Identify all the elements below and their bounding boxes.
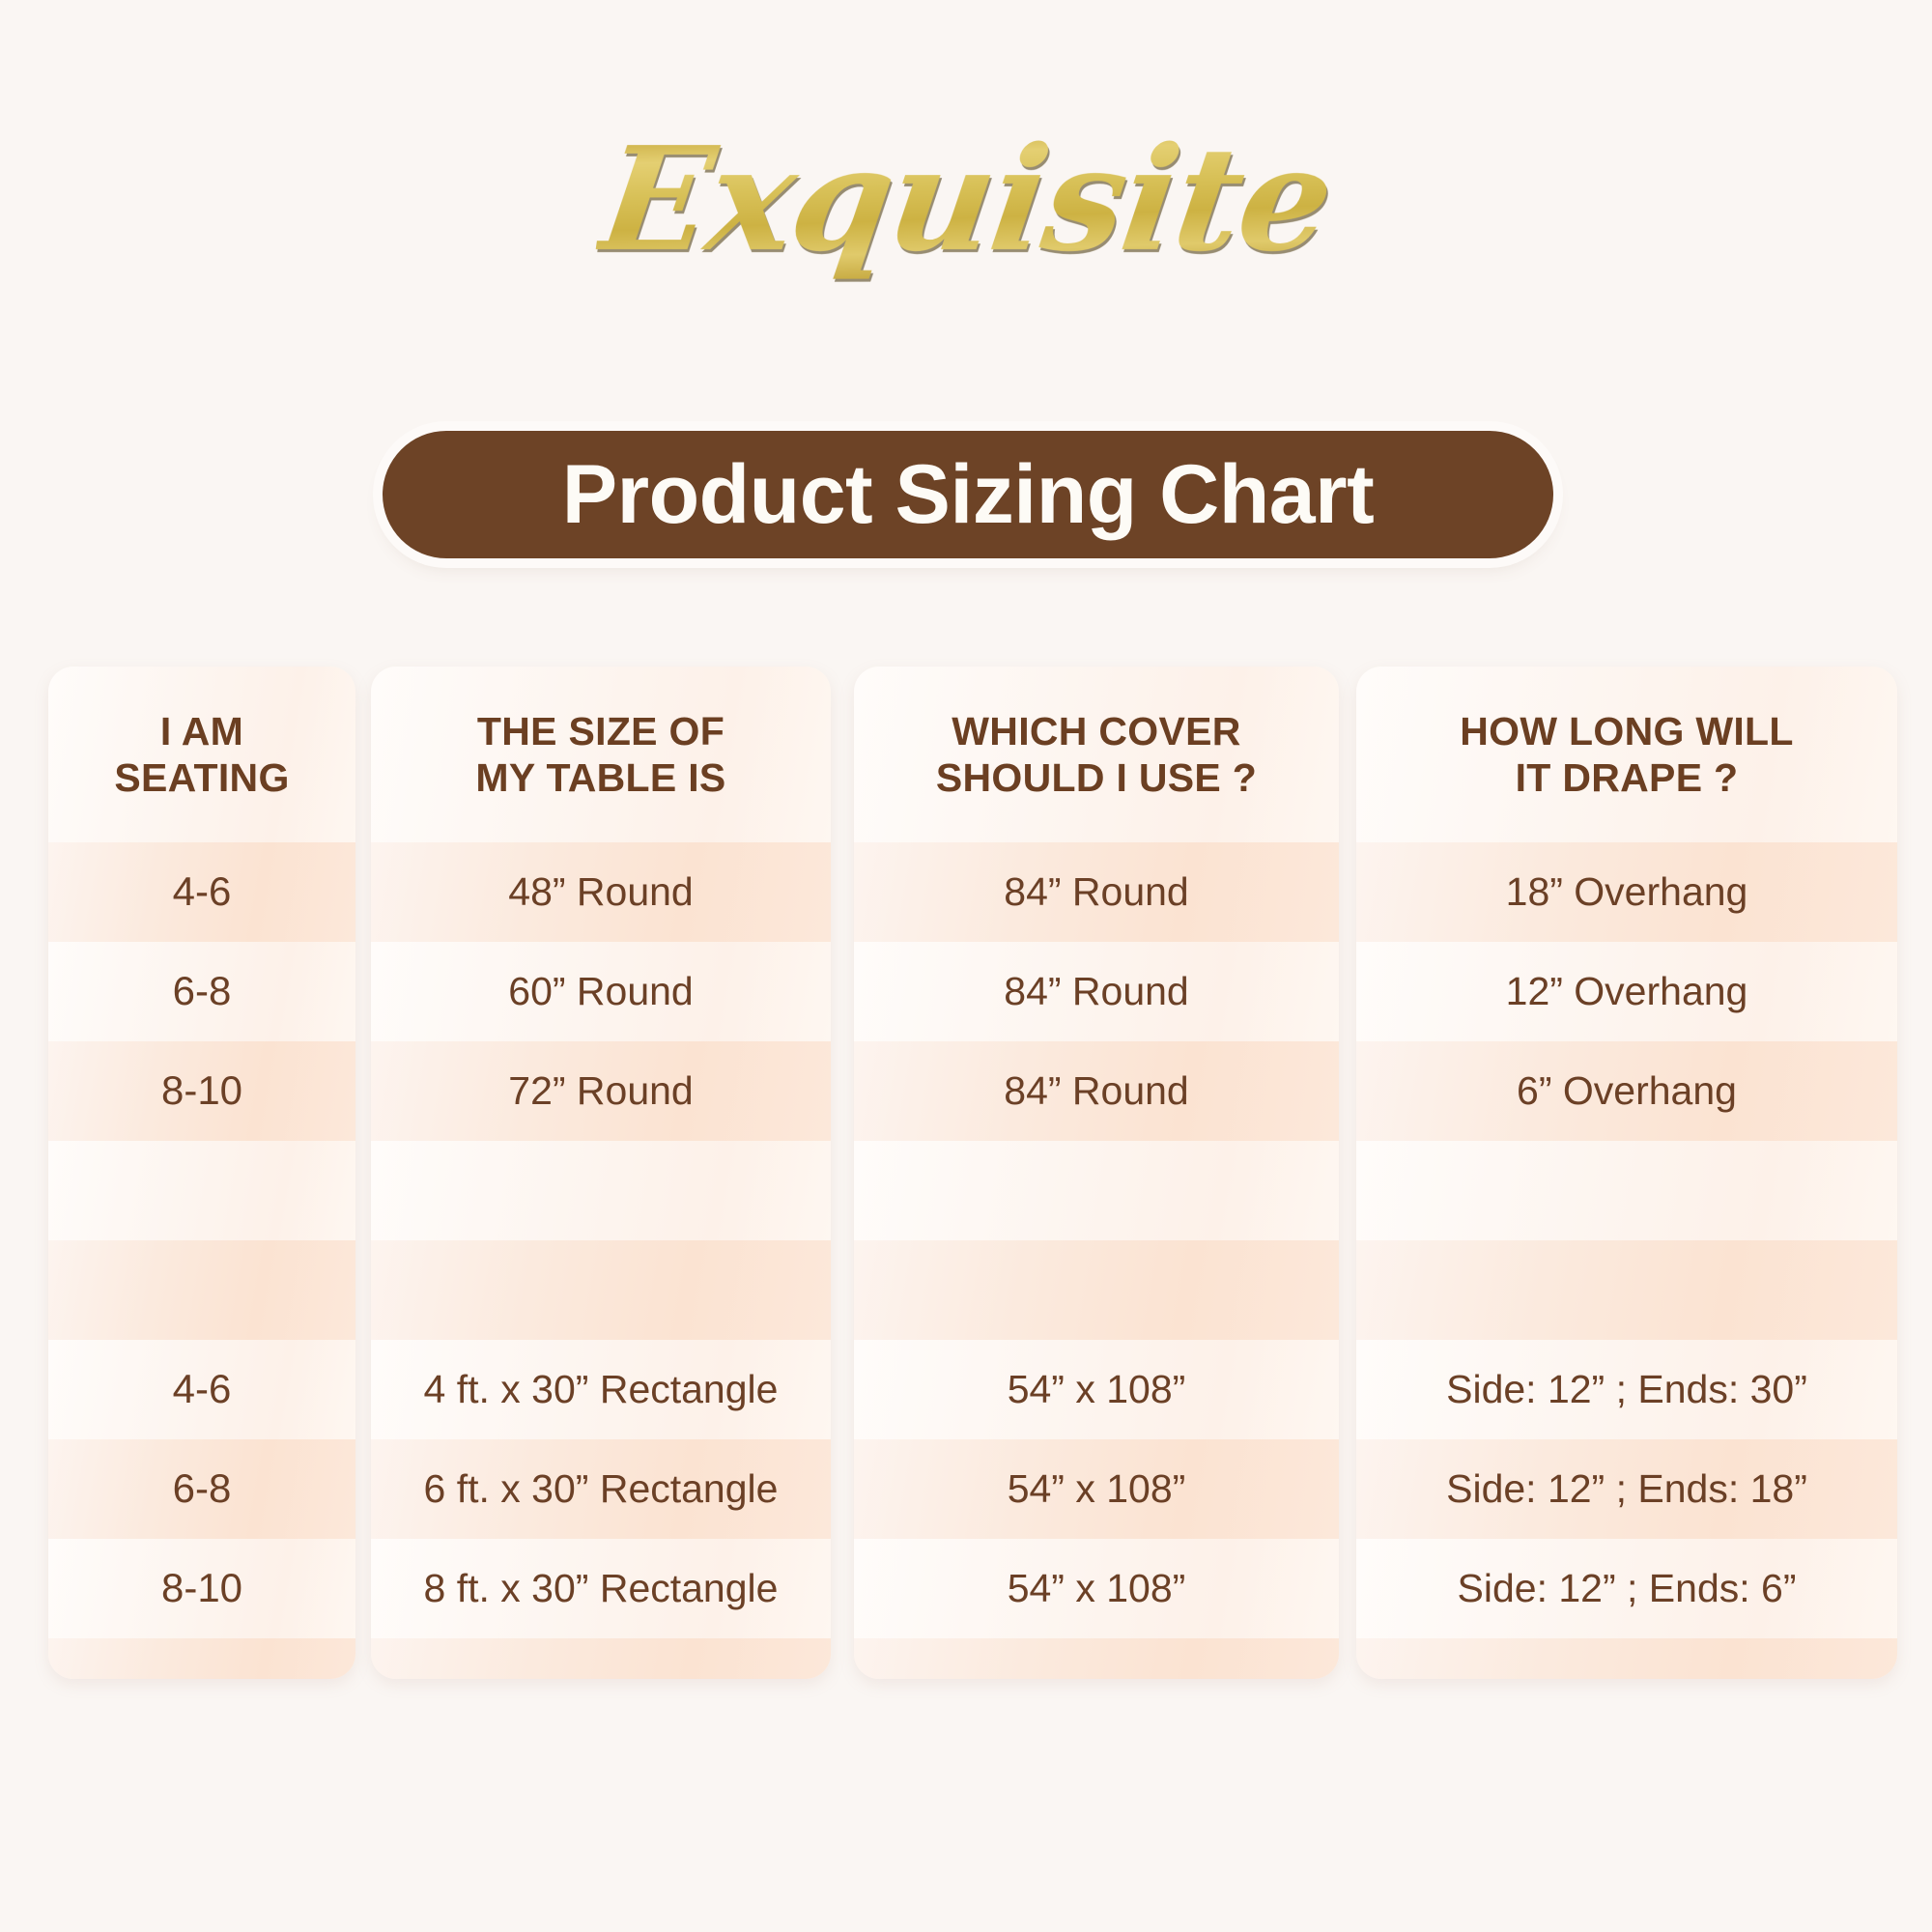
cell-value: 54” x 108” [1008,1567,1186,1610]
cell-value: 8-10 [161,1068,242,1113]
table-row: 72” Round [371,1041,831,1141]
table-row: 18” Overhang [1356,842,1897,942]
table-row: Side: 12” ; Ends: 18” [1356,1439,1897,1539]
cell-value: Side: 12” ; Ends: 6” [1458,1567,1797,1610]
column-header-label: WHICH COVER SHOULD I USE ? [936,708,1257,802]
table-row: 84” Round [854,942,1339,1041]
table-row: 60” Round [371,942,831,1041]
table-row: 4 ft. x 30” Rectangle [371,1340,831,1439]
cell-value: Side: 12” ; Ends: 30” [1446,1368,1807,1411]
cell-value: 8 ft. x 30” Rectangle [424,1567,779,1610]
table-row: Side: 12” ; Ends: 30” [1356,1340,1897,1439]
table-row-spacer [854,1638,1339,1679]
cell-value: 6 ft. x 30” Rectangle [424,1467,779,1511]
table-row: 6-8 [48,942,355,1041]
table-row-spacer [371,1141,831,1240]
table-row: 6” Overhang [1356,1041,1897,1141]
table-column-drape: HOW LONG WILL IT DRAPE ? 18” Overhang 12… [1356,667,1897,1679]
column-header: THE SIZE OF MY TABLE IS [371,667,831,842]
table-row: 54” x 108” [854,1340,1339,1439]
cell-value: 6-8 [173,969,232,1013]
column-header: HOW LONG WILL IT DRAPE ? [1356,667,1897,842]
table-row: 4-6 [48,1340,355,1439]
table-row: 48” Round [371,842,831,942]
cell-value: 6-8 [173,1466,232,1511]
cell-value: 60” Round [508,970,693,1013]
column-header-label: THE SIZE OF MY TABLE IS [475,708,725,802]
table-row: 8-10 [48,1539,355,1638]
table-column-cover: WHICH COVER SHOULD I USE ? 84” Round 84”… [854,667,1339,1679]
table-row-spacer [854,1240,1339,1340]
table-column-seating: I AM SEATING 4-6 6-8 8-10 4-6 6-8 8-10 [48,667,355,1679]
table-row-spacer [1356,1141,1897,1240]
table-row: 6 ft. x 30” Rectangle [371,1439,831,1539]
cell-value: 4 ft. x 30” Rectangle [424,1368,779,1411]
cell-value: 4-6 [173,1367,232,1411]
table-row-spacer [854,1141,1339,1240]
column-header: WHICH COVER SHOULD I USE ? [854,667,1339,842]
cell-value: 84” Round [1004,1069,1188,1113]
cell-value: 72” Round [508,1069,693,1113]
brand-logo-text: Exquisite [587,93,1344,305]
table-row: Side: 12” ; Ends: 6” [1356,1539,1897,1638]
page-title: Product Sizing Chart [562,453,1374,536]
table-column-table-size: THE SIZE OF MY TABLE IS 48” Round 60” Ro… [371,667,831,1679]
cell-value: 6” Overhang [1517,1069,1737,1113]
table-row: 84” Round [854,842,1339,942]
column-header-label: I AM SEATING [114,708,289,802]
cell-value: 48” Round [508,870,693,914]
cell-value: 84” Round [1004,870,1188,914]
cell-value: 54” x 108” [1008,1467,1186,1511]
table-row: 6-8 [48,1439,355,1539]
cell-value: 4-6 [173,869,232,914]
table-row-spacer [48,1638,355,1679]
cell-value: 54” x 108” [1008,1368,1186,1411]
table-row-spacer [48,1141,355,1240]
table-row: 54” x 108” [854,1439,1339,1539]
column-header-label: HOW LONG WILL IT DRAPE ? [1460,708,1794,802]
table-row: 8 ft. x 30” Rectangle [371,1539,831,1638]
table-row: 8-10 [48,1041,355,1141]
table-row: 54” x 108” [854,1539,1339,1638]
column-header: I AM SEATING [48,667,355,842]
table-row-spacer [371,1240,831,1340]
table-row-spacer [371,1638,831,1679]
cell-value: Side: 12” ; Ends: 18” [1446,1467,1807,1511]
table-row: 12” Overhang [1356,942,1897,1041]
cell-value: 8-10 [161,1566,242,1610]
cell-value: 12” Overhang [1506,970,1748,1013]
table-row-spacer [1356,1638,1897,1679]
cell-value: 84” Round [1004,970,1188,1013]
sizing-table: I AM SEATING 4-6 6-8 8-10 4-6 6-8 8-10 T… [0,667,1932,1700]
page-title-banner: Product Sizing Chart [383,431,1553,558]
table-row-spacer [1356,1240,1897,1340]
cell-value: 18” Overhang [1506,870,1748,914]
table-row: 4-6 [48,842,355,942]
table-row: 84” Round [854,1041,1339,1141]
brand-logo: Exquisite [0,93,1932,305]
table-row-spacer [48,1240,355,1340]
